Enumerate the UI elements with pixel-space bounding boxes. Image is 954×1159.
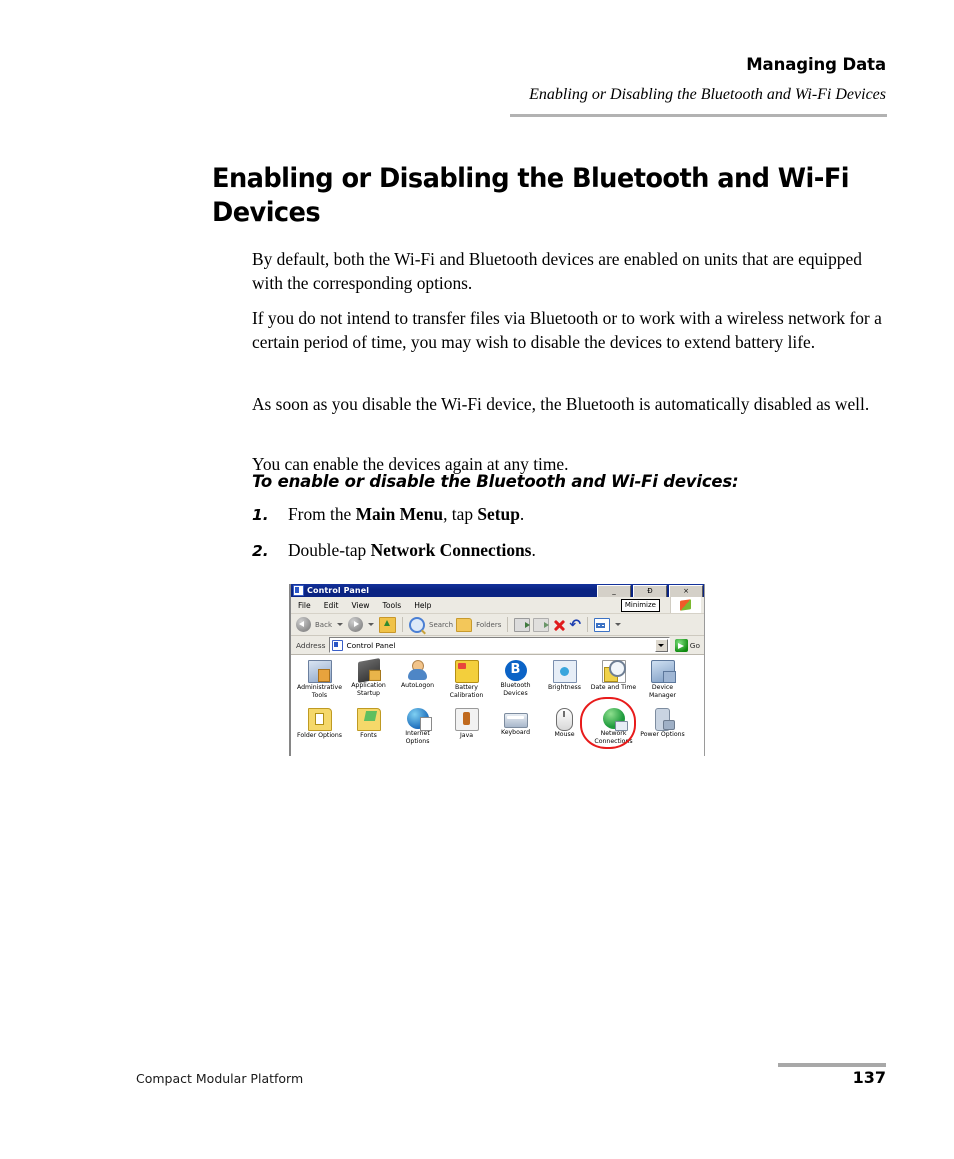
cp-item-fonts[interactable]: Fonts	[344, 708, 393, 756]
step-text-end: .	[520, 504, 524, 524]
back-chevron-down-icon[interactable]	[337, 623, 343, 626]
menu-bar: File Edit View Tools Help Minimize	[291, 597, 704, 614]
cp-item-autologon[interactable]: AutoLogon	[393, 660, 442, 708]
search-icon[interactable]	[409, 617, 425, 633]
procedure-step-1: 1.From the Main Menu, tap Setup.	[252, 503, 888, 526]
minimize-tooltip: Minimize	[621, 599, 660, 612]
footer-divider-rule	[778, 1063, 886, 1067]
header-divider-rule	[510, 114, 887, 117]
autologon-icon	[407, 660, 429, 681]
window-title: Control Panel	[307, 586, 369, 595]
date-and-time-icon	[602, 660, 626, 683]
cp-item-label: Java	[442, 732, 491, 740]
cp-item-label: Keyboard	[491, 729, 540, 737]
go-label: Go	[690, 641, 700, 650]
menu-item-view[interactable]: View	[351, 601, 369, 610]
cp-item-label: Battery Calibration	[442, 684, 491, 699]
procedure-step-2: 2.Double-tap Network Connections.	[252, 539, 888, 562]
administrative-tools-icon	[308, 660, 332, 683]
step-text-end: .	[531, 540, 535, 560]
keyboard-icon	[504, 713, 528, 728]
power-options-icon	[655, 708, 670, 731]
step-emphasis-main-menu: Main Menu	[356, 504, 443, 524]
battery-calibration-icon	[455, 660, 479, 683]
cp-item-network-connections[interactable]: Network Connections	[589, 708, 638, 756]
menu-item-help[interactable]: Help	[414, 601, 431, 610]
page-title: Enabling or Disabling the Bluetooth and …	[212, 162, 858, 230]
go-button[interactable]: Go	[675, 639, 700, 652]
cp-item-device-manager[interactable]: Device Manager	[638, 660, 687, 708]
control-panel-screenshot: Control Panel _ Ð × File Edit View Tools…	[289, 584, 705, 756]
step-text-middle: , tap	[443, 504, 477, 524]
footer-product-name: Compact Modular Platform	[136, 1071, 303, 1086]
toolbar-separator	[402, 617, 403, 632]
cp-item-label: Date and Time	[589, 684, 638, 692]
cp-item-java[interactable]: Java	[442, 708, 491, 756]
header-title: Managing Data	[746, 55, 886, 74]
device-manager-icon	[651, 660, 675, 683]
toolbar-separator	[587, 617, 588, 632]
application-startup-icon	[358, 658, 380, 683]
address-dropdown-chevron-icon[interactable]	[655, 639, 668, 652]
move-to-icon[interactable]	[514, 618, 530, 632]
control-panel-row-1: Administrative Tools Application Startup…	[291, 660, 704, 708]
step-text: Double-tap	[288, 540, 371, 560]
cp-item-label: Network Connections	[589, 730, 638, 745]
address-bar: Address Control Panel Go	[291, 636, 704, 655]
address-label: Address	[296, 641, 325, 650]
cp-item-mouse[interactable]: Mouse	[540, 708, 589, 756]
procedure-heading: To enable or disable the Bluetooth and W…	[252, 472, 738, 491]
address-control-panel-icon	[332, 640, 343, 651]
cp-item-label: Mouse	[540, 731, 589, 739]
menu-item-file[interactable]: File	[298, 601, 311, 610]
toolbar-separator	[507, 617, 508, 632]
cp-item-label: Internet Options	[393, 730, 442, 745]
search-label: Search	[429, 621, 453, 629]
bluetooth-icon	[505, 660, 527, 681]
up-folder-icon[interactable]	[379, 617, 396, 633]
cp-item-keyboard[interactable]: Keyboard	[491, 708, 540, 756]
views-chevron-down-icon[interactable]	[615, 623, 621, 626]
window-title-bar: Control Panel _ Ð ×	[291, 584, 704, 597]
cp-item-bluetooth-devices[interactable]: Bluetooth Devices	[491, 660, 540, 708]
cp-item-label: Device Manager	[638, 684, 687, 699]
cp-item-internet-options[interactable]: Internet Options	[393, 708, 442, 756]
menu-item-edit[interactable]: Edit	[324, 601, 339, 610]
cp-item-application-startup[interactable]: Application Startup	[344, 660, 393, 708]
undo-icon[interactable]: ↶	[569, 618, 581, 632]
control-panel-items-area: Administrative Tools Application Startup…	[291, 655, 704, 756]
body-paragraph-2: If you do not intend to transfer files v…	[252, 307, 888, 354]
cp-item-administrative-tools[interactable]: Administrative Tools	[295, 660, 344, 708]
cp-item-label: Brightness	[540, 684, 589, 692]
network-connections-icon	[603, 708, 625, 729]
go-arrow-icon	[675, 639, 688, 652]
step-number: 2.	[252, 540, 288, 562]
step-number: 1.	[252, 504, 288, 526]
delete-icon[interactable]	[552, 618, 566, 632]
windows-flag-icon	[670, 597, 701, 613]
java-icon	[455, 708, 479, 731]
cp-item-label: Application Startup	[344, 682, 393, 697]
control-panel-icon	[293, 585, 304, 596]
cp-item-label: Folder Options	[295, 732, 344, 740]
folders-icon[interactable]	[456, 618, 472, 632]
address-value: Control Panel	[346, 641, 395, 650]
brightness-icon	[553, 660, 577, 683]
cp-item-power-options[interactable]: Power Options	[638, 708, 687, 756]
toolbar: Back Search Folders ↶	[291, 614, 704, 636]
fonts-icon	[357, 708, 381, 731]
cp-item-battery-calibration[interactable]: Battery Calibration	[442, 660, 491, 708]
forward-chevron-down-icon[interactable]	[368, 623, 374, 626]
header-subtitle: Enabling or Disabling the Bluetooth and …	[529, 86, 886, 104]
address-input[interactable]: Control Panel	[329, 637, 669, 653]
cp-item-label: Fonts	[344, 732, 393, 740]
page-number: 137	[853, 1068, 886, 1087]
views-icon[interactable]	[594, 618, 610, 632]
folders-label: Folders	[476, 621, 501, 629]
cp-item-label: Power Options	[638, 731, 687, 739]
cp-item-label: Administrative Tools	[295, 684, 344, 699]
step-emphasis-network-connections: Network Connections	[371, 540, 532, 560]
cp-item-brightness[interactable]: Brightness	[540, 660, 589, 708]
step-text: From the	[288, 504, 356, 524]
mouse-icon	[556, 708, 573, 731]
internet-options-icon	[407, 708, 429, 729]
copy-to-icon[interactable]	[533, 618, 549, 632]
folder-options-icon	[308, 708, 332, 731]
menu-item-tools[interactable]: Tools	[382, 601, 401, 610]
step-emphasis-setup: Setup	[477, 504, 520, 524]
back-icon[interactable]	[296, 617, 311, 632]
back-label: Back	[315, 621, 332, 629]
body-paragraph-1: By default, both the Wi-Fi and Bluetooth…	[252, 248, 888, 295]
cp-item-date-and-time[interactable]: Date and Time	[589, 660, 638, 708]
forward-icon[interactable]	[348, 617, 363, 632]
cp-item-label: Bluetooth Devices	[491, 682, 540, 697]
control-panel-row-2: Folder Options Fonts Internet Options Ja…	[291, 708, 704, 756]
body-paragraph-3: As soon as you disable the Wi-Fi device,…	[252, 393, 888, 417]
cp-item-label: AutoLogon	[393, 682, 442, 690]
cp-item-folder-options[interactable]: Folder Options	[295, 708, 344, 756]
